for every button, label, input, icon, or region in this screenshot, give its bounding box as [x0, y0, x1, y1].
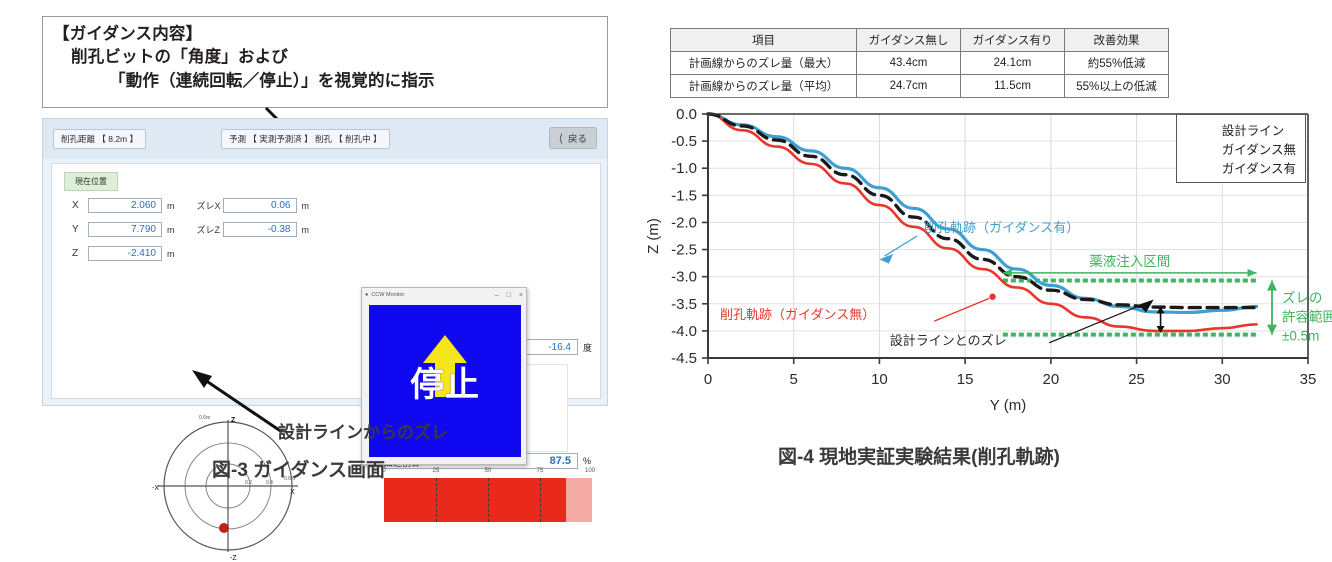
- th-no-guidance: ガイダンス無し: [857, 29, 961, 52]
- back-button-label: 戻る: [568, 131, 587, 145]
- field-label-z: Z: [72, 248, 88, 259]
- cell-no-guidance-max: 43.4cm: [857, 52, 961, 75]
- svg-text:0.0: 0.0: [676, 106, 697, 123]
- svg-text:-2.0: -2.0: [671, 214, 697, 231]
- chart-legend: 設計ライン ガイダンス無 ガイダンス有: [1176, 114, 1306, 183]
- svg-text:Z (m): Z (m): [645, 218, 662, 254]
- field-label-x: X: [72, 200, 88, 211]
- legend-item-design: 設計ライン: [1183, 120, 1296, 139]
- guidance-callout-box: 【ガイダンス内容】 削孔ビットの「角度」および 「動作（連続回転／停止）」を視覚…: [42, 16, 608, 108]
- svg-text:-3.0: -3.0: [671, 269, 697, 286]
- svg-text:Y (m): Y (m): [990, 397, 1026, 414]
- field-label-dev-x: ズレX: [197, 199, 223, 212]
- legend-label-design: 設計ライン: [1222, 120, 1285, 139]
- field-value-z[interactable]: -2.410: [88, 246, 162, 261]
- callout-line-3: 「動作（連続回転／停止）」を視覚的に指示: [53, 70, 599, 93]
- field-row-x: X 2.060 m ズレX 0.06 m: [72, 198, 309, 213]
- field-value-y[interactable]: 7.790: [88, 222, 162, 237]
- svg-text:-1.5: -1.5: [671, 187, 697, 204]
- maximize-icon[interactable]: □: [507, 292, 511, 299]
- table-row: 計画線からのズレ量（最大） 43.4cm 24.1cm 約55%低減: [671, 52, 1169, 75]
- cell-improvement-max: 約55%低減: [1065, 52, 1169, 75]
- chevron-left-icon: ⟨: [559, 132, 563, 145]
- svg-text:20: 20: [1043, 371, 1060, 388]
- th-item: 項目: [671, 29, 857, 52]
- scale-label-50: 50: [485, 468, 492, 474]
- svg-text:削孔軌跡（ガイダンス有）: 削孔軌跡（ガイダンス有）: [924, 220, 1079, 235]
- cell-item-max: 計画線からのズレ量（最大）: [671, 52, 857, 75]
- figure-3-caption: 図-3 ガイダンス画面: [212, 455, 385, 482]
- svg-text:35: 35: [1300, 371, 1317, 388]
- th-with-guidance: ガイダンス有り: [961, 29, 1065, 52]
- scale-label-100: 100: [585, 468, 595, 474]
- svg-text:5: 5: [790, 371, 798, 388]
- svg-text:-3.5: -3.5: [671, 296, 697, 313]
- results-table: 項目 ガイダンス無し ガイダンス有り 改善効果 計画線からのズレ量（最大） 43…: [670, 28, 1169, 98]
- svg-text:25: 25: [1128, 371, 1145, 388]
- svg-text:ズレの: ズレの: [1282, 290, 1323, 305]
- scale-label-25: 25: [433, 468, 440, 474]
- svg-text:-2.5: -2.5: [671, 242, 697, 259]
- dialog-title-bar: ● CCW Monitor – □ ×: [362, 288, 526, 302]
- cell-with-guidance-avg: 11.5cm: [961, 75, 1065, 98]
- svg-text:-4.0: -4.0: [671, 323, 697, 340]
- legend-label-no-guidance: ガイダンス無: [1222, 139, 1296, 158]
- dialog-title: CCW Monitor: [371, 292, 404, 298]
- svg-text:0: 0: [704, 371, 712, 388]
- field-row-z: Z -2.410 m: [72, 246, 175, 261]
- table-header-row: 項目 ガイダンス無し ガイダンス有り 改善効果: [671, 29, 1169, 52]
- deviation-marker: [219, 523, 229, 533]
- svg-text:15: 15: [957, 371, 974, 388]
- current-position-tab[interactable]: 現在位置: [64, 172, 118, 191]
- svg-text:-0.5: -0.5: [671, 133, 697, 150]
- figure-4-field-test-results: 項目 ガイダンス無し ガイダンス有り 改善効果 計画線からのズレ量（最大） 43…: [640, 0, 1332, 518]
- curve-ratio-progress-bar: [384, 478, 592, 522]
- table-row: 計画線からのズレ量（平均） 24.7cm 11.5cm 55%以上の低減: [671, 75, 1169, 98]
- curve-ratio-panel: 曲進割合 0 25 50 75 100: [384, 456, 606, 542]
- field-label-y: Y: [72, 224, 88, 235]
- th-improvement: 改善効果: [1065, 29, 1169, 52]
- field-value-x[interactable]: 2.060: [88, 198, 162, 213]
- svg-text:薬液注入区間: 薬液注入区間: [1089, 254, 1170, 269]
- angle-unit: 度: [583, 341, 592, 354]
- drilling-distance-pill: 削孔距離 【 8.2m 】: [53, 129, 146, 149]
- svg-text:許容範囲: 許容範囲: [1282, 308, 1332, 324]
- field-unit-y: m: [167, 225, 175, 235]
- field-unit-z: m: [167, 249, 175, 259]
- cell-item-avg: 計画線からのズレ量（平均）: [671, 75, 857, 98]
- deviation-annotation-label: 設計ラインからのズレ: [278, 418, 448, 443]
- svg-text:30: 30: [1214, 371, 1231, 388]
- field-unit-x: m: [167, 201, 175, 211]
- field-row-y: Y 7.790 m ズレZ -0.38 m: [72, 222, 309, 237]
- legend-label-with-guidance: ガイダンス有: [1222, 158, 1296, 177]
- svg-text:-1.0: -1.0: [671, 160, 697, 177]
- svg-text:-X: -X: [152, 485, 159, 492]
- legend-item-with-guidance: ガイダンス有: [1183, 158, 1296, 177]
- callout-line-1: 【ガイダンス内容】: [53, 23, 599, 46]
- field-unit-dev-x: m: [302, 201, 310, 211]
- curve-ratio-progress-fill: [384, 478, 566, 522]
- app-top-bar: 削孔距離 【 8.2m 】 予測 【 実測予測済 】 削孔 【 削孔中 】 ⟨ …: [43, 119, 607, 159]
- svg-text:-4.5: -4.5: [671, 350, 697, 367]
- stop-label: 停止: [410, 357, 480, 406]
- cell-improvement-avg: 55%以上の低減: [1065, 75, 1169, 98]
- close-icon[interactable]: ×: [519, 292, 523, 299]
- cell-no-guidance-avg: 24.7cm: [857, 75, 961, 98]
- svg-text:X: X: [290, 489, 295, 496]
- callout-line-2: 削孔ビットの「角度」および: [53, 46, 599, 69]
- cell-with-guidance-max: 24.1cm: [961, 52, 1065, 75]
- field-value-dev-x[interactable]: 0.06: [223, 198, 297, 213]
- back-button[interactable]: ⟨ 戻る: [549, 127, 597, 149]
- svg-text:±0.5m: ±0.5m: [1282, 328, 1319, 343]
- svg-text:10: 10: [871, 371, 888, 388]
- status-pill: 予測 【 実測予測済 】 削孔 【 削孔中 】: [221, 129, 390, 149]
- figure-4-caption: 図-4 現地実証実験結果(削孔軌跡): [778, 442, 1060, 469]
- field-unit-dev-z: m: [302, 225, 310, 235]
- field-value-dev-z[interactable]: -0.38: [223, 222, 297, 237]
- app-icon: ●: [365, 292, 368, 298]
- legend-item-no-guidance: ガイダンス無: [1183, 139, 1296, 158]
- svg-text:削孔軌跡（ガイダンス無）: 削孔軌跡（ガイダンス無）: [720, 307, 875, 322]
- minimize-icon[interactable]: –: [495, 292, 499, 299]
- scale-label-75: 75: [537, 468, 544, 474]
- svg-text:-Z: -Z: [230, 555, 237, 562]
- field-label-dev-z: ズレZ: [197, 223, 223, 236]
- drilling-trajectory-chart: 0.0-0.5-1.0-1.5-2.0-2.5-3.0-3.5-4.0-4.50…: [640, 96, 1332, 436]
- figure-3-guidance-screen: 【ガイダンス内容】 削孔ビットの「角度」および 「動作（連続回転／停止）」を視覚…: [0, 0, 640, 518]
- svg-text:設計ラインとのズレ: 設計ラインとのズレ: [890, 333, 1007, 348]
